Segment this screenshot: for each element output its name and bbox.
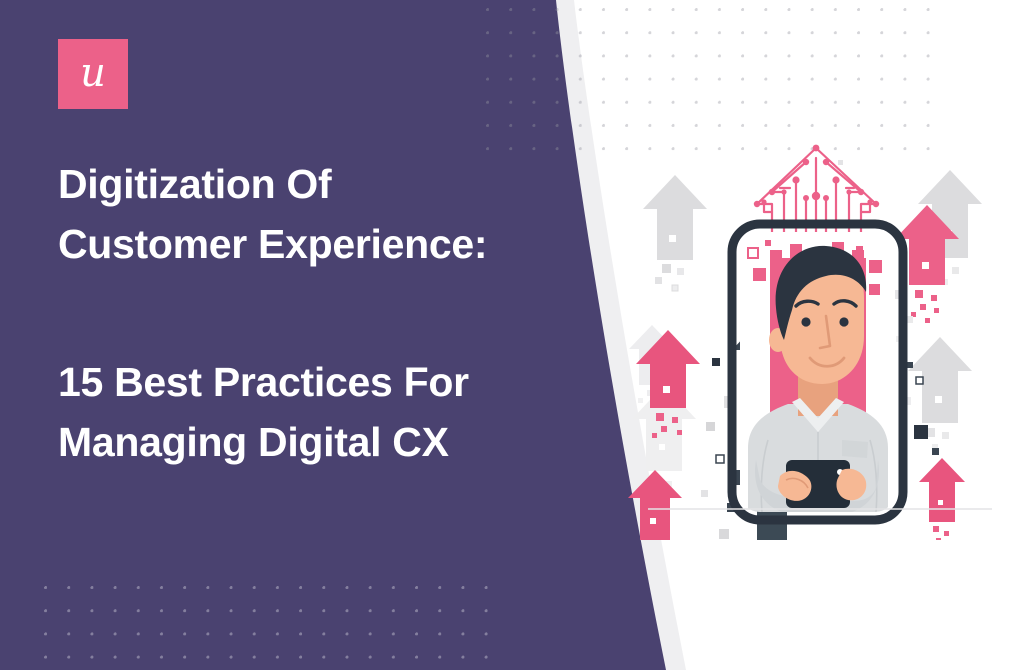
arrow-gray-top-left	[643, 175, 707, 291]
illustration-man-with-tablet	[620, 140, 1010, 540]
dot-grid-bottom	[44, 586, 492, 670]
headline-block: Digitization Of Customer Experience:	[58, 154, 488, 275]
arrow-pink-bottom-left	[628, 470, 682, 540]
hero-banner: u Digitization Of Customer Experience: 1…	[0, 0, 1024, 670]
arrow-pink-bottom-right	[919, 458, 965, 540]
page-title: Digitization Of Customer Experience:	[58, 154, 488, 275]
subheadline-block: 15 Best Practices For Managing Digital C…	[58, 352, 498, 473]
circuit-board-arrow-icon	[754, 145, 879, 232]
dot-grid-top	[486, 8, 938, 151]
userpilot-u-logo-icon: u	[80, 53, 106, 93]
brand-logo[interactable]: u	[58, 39, 128, 109]
page-subtitle: 15 Best Practices For Managing Digital C…	[58, 352, 498, 473]
